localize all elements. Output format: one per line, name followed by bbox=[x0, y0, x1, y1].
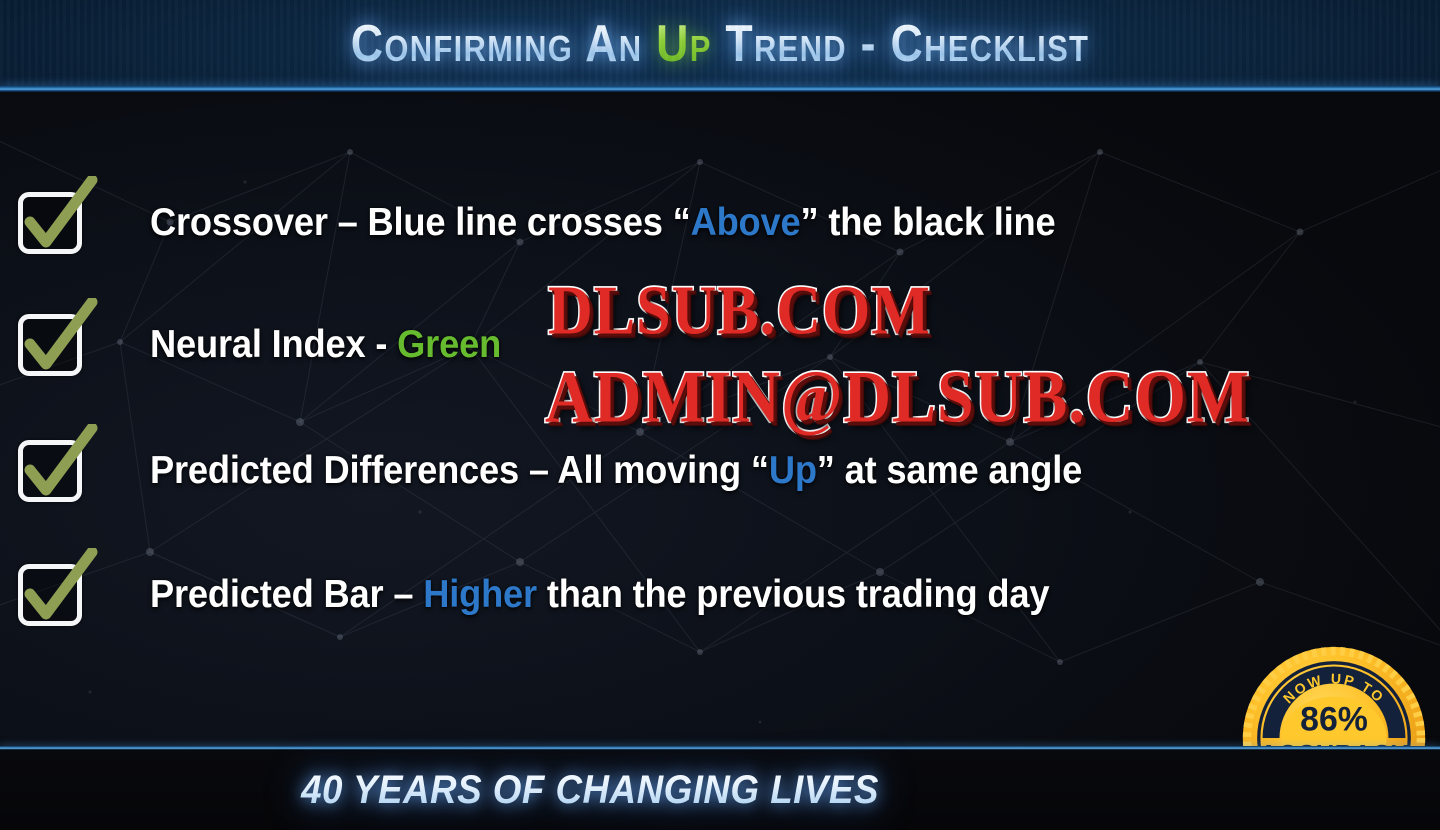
page-title: Confirming An Up Trend - Checklist bbox=[101, 8, 1339, 80]
highlight-up: Up bbox=[769, 449, 817, 492]
page-title-part-1: Confirming An bbox=[351, 15, 656, 73]
footer-tagline: 40 YEARS OF CHANGING LIVES bbox=[47, 764, 1133, 816]
checklist-item-text: Neural Index - Green bbox=[150, 322, 501, 368]
checkmark-icon bbox=[14, 424, 100, 510]
checkbox-checked[interactable] bbox=[18, 564, 82, 626]
checklist-item[interactable]: Predicted Differences – All moving “Up” … bbox=[0, 436, 1440, 506]
text-segment: Predicted Differences – All moving “ bbox=[150, 449, 769, 492]
checkmark-icon bbox=[14, 298, 100, 384]
checkbox-checked[interactable] bbox=[18, 314, 82, 376]
highlight-above: Above bbox=[691, 201, 801, 244]
checklist-item[interactable]: Neural Index - Green bbox=[0, 310, 1440, 380]
accuracy-badge: NOW UP TO 86% ACCURACY Documented & Veri… bbox=[1240, 644, 1428, 748]
slide-root: Confirming An Up Trend - Checklist bbox=[0, 0, 1440, 830]
slide-header: Confirming An Up Trend - Checklist bbox=[0, 0, 1440, 86]
checkmark-icon bbox=[14, 176, 100, 262]
checkbox-checked[interactable] bbox=[18, 192, 82, 254]
text-segment: ” at same angle bbox=[817, 449, 1082, 492]
text-segment: ” the black line bbox=[800, 201, 1055, 244]
checklist-item-text: Predicted Differences – All moving “Up” … bbox=[150, 448, 1082, 494]
page-title-accent-up: Up bbox=[656, 15, 712, 73]
checklist-item[interactable]: Predicted Bar – Higher than the previous… bbox=[0, 560, 1440, 630]
text-segment: Crossover – Blue line crosses “ bbox=[150, 201, 691, 244]
badge-percent: 86% bbox=[1300, 700, 1368, 738]
checkmark-icon bbox=[14, 548, 100, 634]
checklist-item-text: Crossover – Blue line crosses “Above” th… bbox=[150, 200, 1056, 246]
highlight-higher: Higher bbox=[423, 573, 537, 616]
slide-body: Crossover – Blue line crosses “Above” th… bbox=[0, 92, 1440, 748]
checklist: Crossover – Blue line crosses “Above” th… bbox=[0, 92, 1440, 748]
checkbox-checked[interactable] bbox=[18, 440, 82, 502]
checklist-item-text: Predicted Bar – Higher than the previous… bbox=[150, 572, 1049, 618]
text-segment: Predicted Bar – bbox=[150, 573, 423, 616]
text-segment: than the previous trading day bbox=[537, 573, 1049, 616]
page-title-part-3: Trend - Checklist bbox=[712, 15, 1090, 73]
text-segment: Neural Index - bbox=[150, 323, 397, 366]
slide-footer: 40 YEARS OF CHANGING LIVES VantagePoint … bbox=[0, 750, 1440, 830]
checklist-item[interactable]: Crossover – Blue line crosses “Above” th… bbox=[0, 188, 1440, 258]
highlight-green: Green bbox=[397, 323, 501, 366]
